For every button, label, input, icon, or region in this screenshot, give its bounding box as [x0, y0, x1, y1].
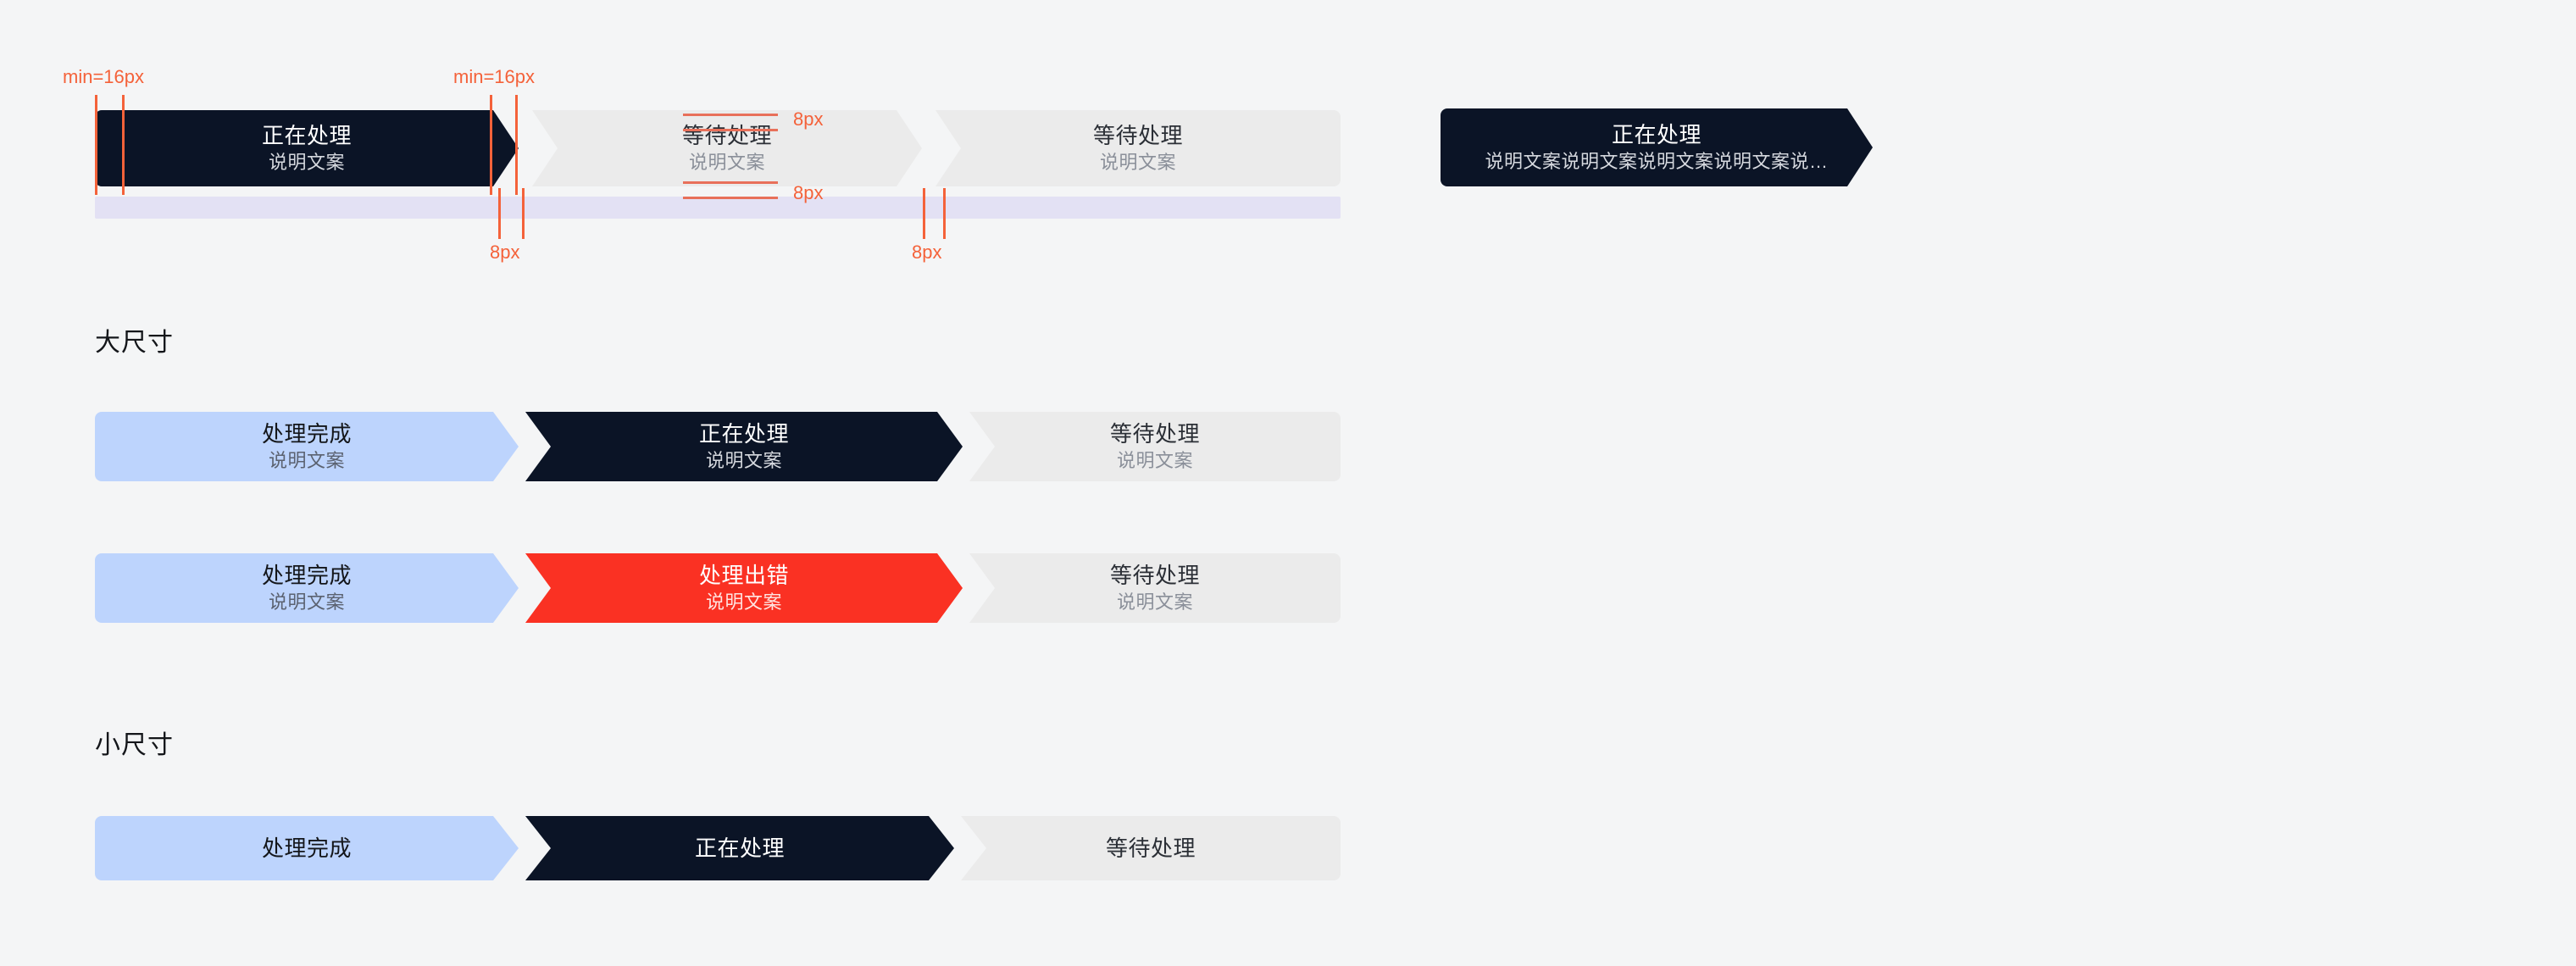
step-gap — [963, 412, 969, 481]
step-active[interactable]: 正在处理 — [525, 816, 954, 880]
step-desc: 说明文案 — [269, 590, 345, 615]
annotation-line-gap-bottom-b — [683, 197, 778, 199]
step-desc: 说明文案 — [1100, 150, 1176, 175]
step-desc: 说明文案 — [706, 448, 782, 474]
step-wait[interactable]: 等待处理 — [961, 816, 1341, 880]
annotation-line-gap-top-b — [683, 129, 778, 131]
step-title: 正在处理 — [699, 419, 789, 448]
step-title: 等待处理 — [1110, 419, 1200, 448]
step-done[interactable]: 处理完成 — [95, 816, 519, 880]
step-wait[interactable]: 等待处理 说明文案 — [969, 412, 1341, 481]
spec-step-1[interactable]: 正在处理 说明文案 — [95, 110, 519, 186]
spec-steps-row: 正在处理 说明文案 等待处理 说明文案 等待处理 说明文案 — [95, 110, 1341, 186]
overflow-example-step[interactable]: 正在处理 说明文案说明文案说明文案说明文案说… — [1441, 108, 1873, 186]
annotation-gap-top: 8px — [793, 108, 823, 130]
step-desc: 说明文案 — [689, 150, 765, 175]
step-desc: 说明文案 — [706, 590, 782, 615]
large-error-steps-row: 处理完成 说明文案 处理出错 说明文案 等待处理 说明文案 — [95, 553, 1341, 623]
spec-step-3[interactable]: 等待处理 说明文案 — [935, 110, 1341, 186]
annotation-line-gap2-b — [943, 188, 946, 239]
design-spec-canvas: 正在处理 说明文案 等待处理 说明文案 等待处理 说明文案 min=16px m… — [0, 0, 2576, 966]
step-title: 正在处理 — [695, 834, 785, 863]
step-desc: 说明文案 — [269, 448, 345, 474]
step-title: 处理完成 — [262, 419, 352, 448]
step-done[interactable]: 处理完成 说明文案 — [95, 553, 519, 623]
spec-step-2[interactable]: 等待处理 说明文案 — [532, 110, 922, 186]
section-heading-small: 小尺寸 — [95, 729, 174, 763]
step-gap — [519, 412, 525, 481]
step-title: 正在处理 — [262, 121, 352, 150]
large-default-steps-row: 处理完成 说明文案 正在处理 说明文案 等待处理 说明文案 — [95, 412, 1341, 481]
annotation-line-gap1-a — [498, 188, 501, 239]
annotation-line-gap2-a — [923, 188, 925, 239]
annotation-gap-arrow-1: 8px — [490, 241, 519, 264]
step-desc: 说明文案说明文案说明文案说明文案说… — [1485, 149, 1828, 175]
step-title: 正在处理 — [1612, 120, 1702, 149]
step-gap — [519, 816, 525, 880]
spec-progress-track — [95, 197, 1341, 219]
annotation-min-left: min=16px — [63, 66, 144, 88]
step-done[interactable]: 处理完成 说明文案 — [95, 412, 519, 481]
step-desc: 说明文案 — [1117, 448, 1193, 474]
step-title: 等待处理 — [1093, 121, 1183, 150]
annotation-line-gap-top-a — [683, 114, 778, 116]
small-default-steps-row: 处理完成 正在处理 等待处理 — [95, 816, 1341, 880]
step-title: 处理完成 — [262, 561, 352, 590]
step-desc: 说明文案 — [1117, 590, 1193, 615]
step-wait[interactable]: 等待处理 说明文案 — [969, 553, 1341, 623]
annotation-min-right: min=16px — [453, 66, 535, 88]
annotation-line-min-right-a — [490, 95, 492, 195]
step-title: 等待处理 — [1110, 561, 1200, 590]
annotation-line-min-left-b — [122, 95, 125, 195]
step-title: 处理出错 — [699, 561, 789, 590]
spec-gap-2 — [922, 110, 935, 186]
step-title: 等待处理 — [682, 121, 772, 150]
annotation-line-gap1-b — [522, 188, 525, 239]
step-gap — [963, 553, 969, 623]
section-heading-large: 大尺寸 — [95, 326, 174, 360]
annotation-gap-arrow-2: 8px — [912, 241, 941, 264]
annotation-line-min-right-b — [515, 95, 518, 195]
step-gap — [519, 553, 525, 623]
step-title: 处理完成 — [262, 834, 352, 863]
annotation-line-gap-bottom-a — [683, 181, 778, 184]
step-active[interactable]: 正在处理 说明文案 — [525, 412, 963, 481]
annotation-line-min-left-a — [95, 95, 97, 195]
step-title: 等待处理 — [1106, 834, 1196, 863]
step-error[interactable]: 处理出错 说明文案 — [525, 553, 963, 623]
step-gap — [954, 816, 961, 880]
step-desc: 说明文案 — [269, 150, 345, 175]
spec-gap-1 — [519, 110, 532, 186]
annotation-gap-bottom: 8px — [793, 182, 823, 204]
